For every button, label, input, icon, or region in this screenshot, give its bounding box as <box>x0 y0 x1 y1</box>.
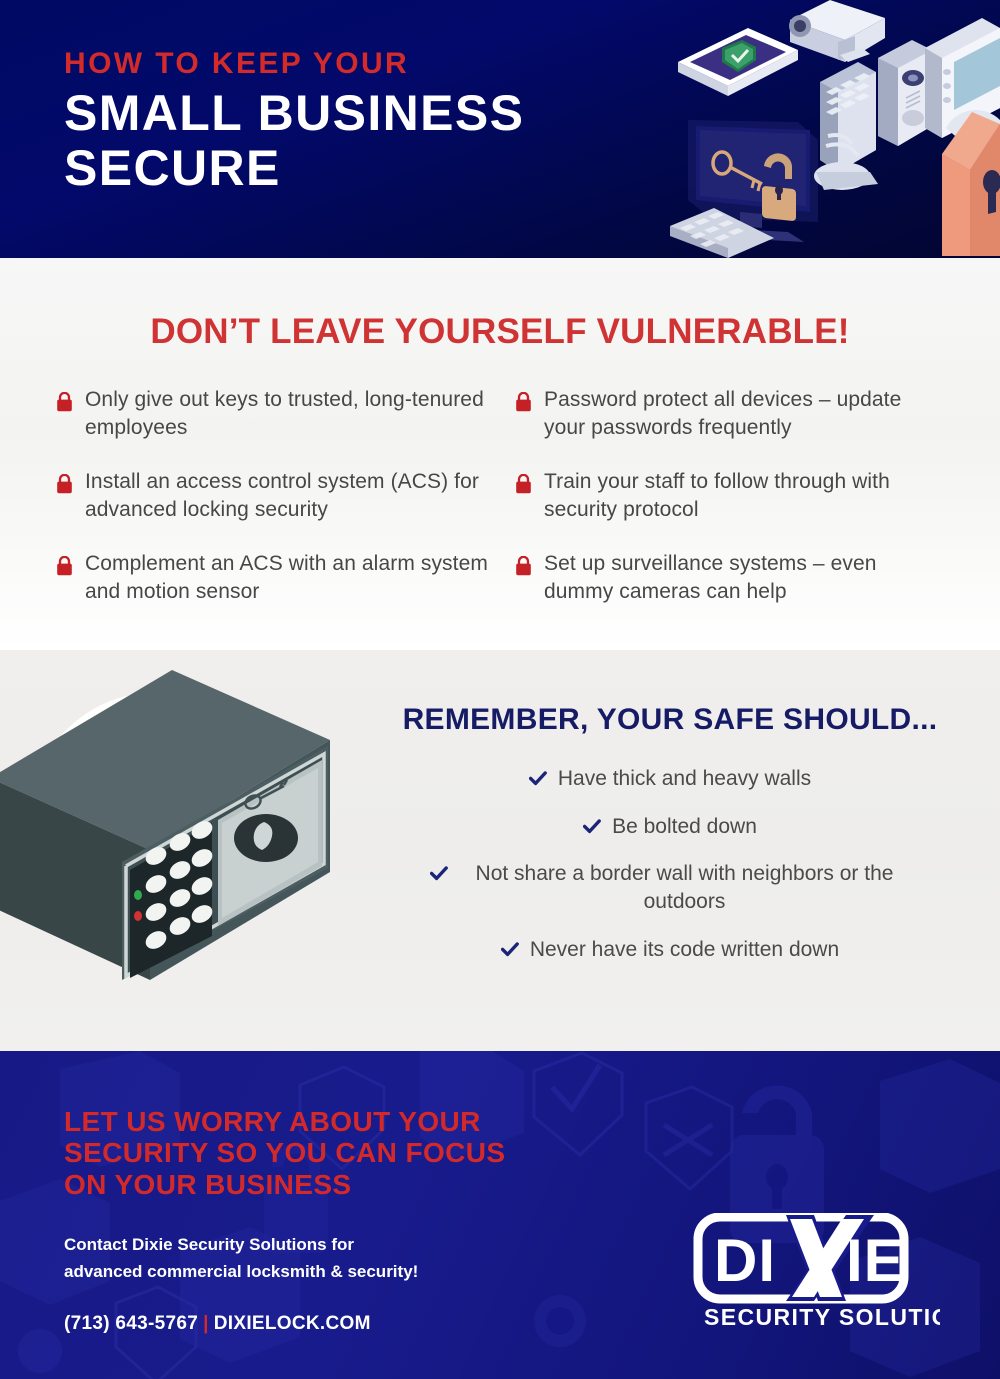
safe-content: REMEMBER, YOUR SAFE SHOULD... Have thick… <box>340 650 1000 964</box>
security-camera-icon <box>789 0 885 62</box>
padlock-icon <box>56 556 73 576</box>
vulnerable-section: DON’T LEAVE YOURSELF VULNERABLE! Only gi… <box>0 258 1000 650</box>
dixie-logo[interactable]: DI IE SECURITY SOLUTIONS <box>690 1213 940 1331</box>
list-item-label: Train your staff to follow through with … <box>544 468 948 524</box>
padlock-icon <box>515 392 532 412</box>
vulnerable-heading: DON’T LEAVE YOURSELF VULNERABLE! <box>0 312 1000 352</box>
smartphone-shield-icon <box>678 28 798 96</box>
infographic-page: HOW TO KEEP YOUR SMALL BUSINESS SECURE D… <box>0 0 1000 1379</box>
header-text-block: HOW TO KEEP YOUR SMALL BUSINESS SECURE <box>64 48 524 196</box>
website-link[interactable]: DIXIELOCK.COM <box>214 1313 371 1334</box>
list-item-label: Complement an ACS with an alarm system a… <box>85 550 489 606</box>
cta-line-1: LET US WORRY ABOUT YOUR <box>64 1106 564 1137</box>
list-item: Be bolted down <box>583 813 757 841</box>
header-kicker: HOW TO KEEP YOUR <box>64 48 524 80</box>
padlock-icon <box>515 556 532 576</box>
list-item: Install an access control system (ACS) f… <box>56 468 489 524</box>
cta-line-2: SECURITY SO YOU CAN FOCUS <box>64 1137 564 1168</box>
vulnerable-bullet-grid: Only give out keys to trusted, long-tenu… <box>0 386 1000 606</box>
list-item: Have thick and heavy walls <box>529 765 811 793</box>
list-item: Password protect all devices – update yo… <box>515 386 948 442</box>
safe-section: REMEMBER, YOUR SAFE SHOULD... Have thick… <box>0 650 1000 1051</box>
check-icon <box>430 866 448 881</box>
padlock-icon <box>515 474 532 494</box>
check-icon <box>501 942 519 957</box>
list-item: Only give out keys to trusted, long-tenu… <box>56 386 489 442</box>
padlock-icon <box>56 392 73 412</box>
list-item: Set up surveillance systems – even dummy… <box>515 550 948 606</box>
list-item-label: Have thick and heavy walls <box>558 765 811 793</box>
safe-heading: REMEMBER, YOUR SAFE SHOULD... <box>340 650 1000 737</box>
list-item-label: Install an access control system (ACS) f… <box>85 468 489 524</box>
check-icon <box>583 819 601 834</box>
list-item-label: Password protect all devices – update yo… <box>544 386 948 442</box>
headline-line-1: SMALL BUSINESS <box>64 85 524 141</box>
padlock-icon <box>942 110 1000 256</box>
safe-check-list: Have thick and heavy walls Be bolted dow… <box>340 765 1000 964</box>
header-headline: SMALL BUSINESS SECURE <box>64 86 524 196</box>
footer-cta: LET US WORRY ABOUT YOUR SECURITY SO YOU … <box>64 1106 564 1200</box>
separator: | <box>198 1313 214 1334</box>
check-icon <box>529 771 547 786</box>
svg-text:IE: IE <box>846 1227 905 1294</box>
list-item-label: Not share a border wall with neighbors o… <box>459 860 910 915</box>
list-item: Not share a border wall with neighbors o… <box>430 860 910 915</box>
led-green-icon <box>134 890 142 900</box>
svg-text:DI: DI <box>714 1227 776 1294</box>
header-illustration <box>670 0 1000 258</box>
logo-tagline: SECURITY SOLUTIONS <box>704 1304 940 1330</box>
header-section: HOW TO KEEP YOUR SMALL BUSINESS SECURE <box>0 0 1000 258</box>
list-item-label: Never have its code written down <box>530 936 839 964</box>
list-item: Complement an ACS with an alarm system a… <box>56 550 489 606</box>
phone-number-link[interactable]: (713) 643-5767 <box>64 1313 198 1334</box>
door-lock-keypad-icon <box>814 62 878 190</box>
footer-section: LET US WORRY ABOUT YOUR SECURITY SO YOU … <box>0 1051 1000 1379</box>
cta-line-3: ON YOUR BUSINESS <box>64 1169 564 1200</box>
list-item: Never have its code written down <box>501 936 839 964</box>
headline-line-2: SECURE <box>64 141 524 196</box>
list-item-label: Be bolted down <box>612 813 757 841</box>
intercom-icon <box>878 40 932 146</box>
list-item-label: Only give out keys to trusted, long-tenu… <box>85 386 489 442</box>
list-item: Train your staff to follow through with … <box>515 468 948 524</box>
led-red-icon <box>134 911 142 921</box>
padlock-icon <box>56 474 73 494</box>
list-item-label: Set up surveillance systems – even dummy… <box>544 550 948 606</box>
safe-box-icon <box>0 650 360 1010</box>
